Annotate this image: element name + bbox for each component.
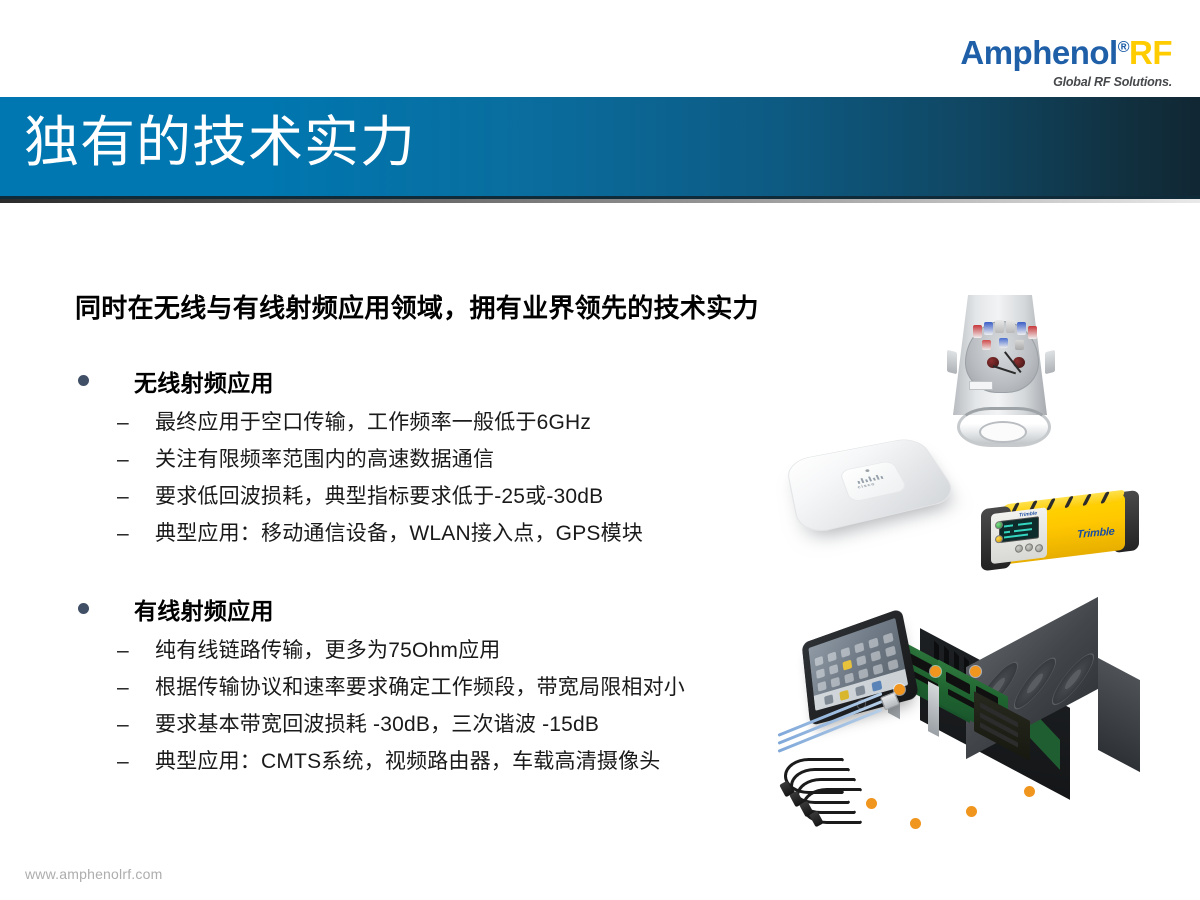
dash-marker-icon: – [117,714,132,735]
bullet-dot-icon [78,603,89,614]
callout-marker [866,798,877,809]
list-item-label: 关注有限频率范围内的高速数据通信 [155,447,494,473]
callout-marker [966,806,977,817]
chassis-side-panel [1098,658,1140,772]
bs-connector [1015,340,1024,350]
cmts-exploded-assembly-image [770,610,1180,845]
dash-marker-icon: – [117,449,132,470]
slide-canvas: Amphenol®RF Global RF Solutions. 独有的技术实力… [0,0,1200,900]
dash-marker-icon: – [117,640,132,661]
bs-mount-tab [1045,350,1055,374]
bs-connector [1017,322,1026,335]
logo-amphenol-text: Amphenol [960,34,1117,71]
dash-marker-icon: – [117,751,132,772]
bs-connector [999,338,1008,348]
dash-marker-icon: – [117,412,132,433]
product-image-panel: cisco Trimble [770,285,1180,855]
pcb-bracket [928,681,939,737]
list-item-label: 最终应用于空口传输，工作频率一般低于6GHz [155,410,591,436]
logo-wordmark: Amphenol®RF [960,36,1172,69]
fan-grille-icon [1014,648,1056,719]
ap-housing: cisco [785,436,961,537]
slide-title: 独有的技术实力 [24,111,416,174]
list-item-label: 根据传输协议和速率要求确定工作频段，带宽局限相对小 [155,675,685,701]
section-title: 有线射频应用 [134,592,274,626]
amphenol-rf-logo: Amphenol®RF Global RF Solutions. [960,36,1172,89]
list-item-label: 纯有线链路传输，更多为75Ohm应用 [155,638,500,664]
logo-rf-text: RF [1129,34,1172,71]
dash-marker-icon: – [117,486,132,507]
bs-connector [982,340,991,350]
callout-marker [1024,786,1035,797]
section-title: 无线射频应用 [134,364,274,398]
logo-tagline: Global RF Solutions. [960,76,1172,89]
footer-website-url[interactable]: www.amphenolrf.com [25,866,162,882]
bs-connector [995,320,1004,333]
dash-marker-icon: – [117,677,132,698]
callout-marker [894,684,905,695]
callout-marker [910,818,921,829]
callout-marker [930,666,941,677]
bullet-dot-icon [78,375,89,386]
bs-bracket-ring [979,421,1027,443]
cisco-access-point-image: cisco [780,420,965,550]
list-item-label: 典型应用：CMTS系统，视频路由器，车载高清摄像头 [155,749,661,775]
slide-title-band: 独有的技术实力 [0,97,1200,199]
bs-mount-tab [947,350,957,374]
bs-connector [973,325,982,338]
callout-marker [970,666,981,677]
trimble-body: Trimble Trimble [973,488,1141,583]
bs-connector [984,322,993,335]
lead-heading: 同时在无线与有线射频应用领域，拥有业界领先的技术实力 [75,288,759,325]
list-item-label: 要求基本带宽回波损耗 -30dB，三次谐波 -15dB [155,712,599,738]
fan-grille-icon [1052,644,1094,715]
dash-marker-icon: – [117,523,132,544]
bs-connector [1028,326,1037,339]
bs-label-plate [969,381,993,390]
trimble-gps-receiver-image: Trimble Trimble [965,488,1155,593]
list-item-label: 要求低回波损耗，典型指标要求低于-25或-30dB [155,484,603,510]
bs-connector [1006,320,1015,333]
list-item-label: 典型应用：移动通信设备，WLAN接入点，GPS模块 [155,521,643,547]
registered-trademark-icon: ® [1118,39,1129,56]
